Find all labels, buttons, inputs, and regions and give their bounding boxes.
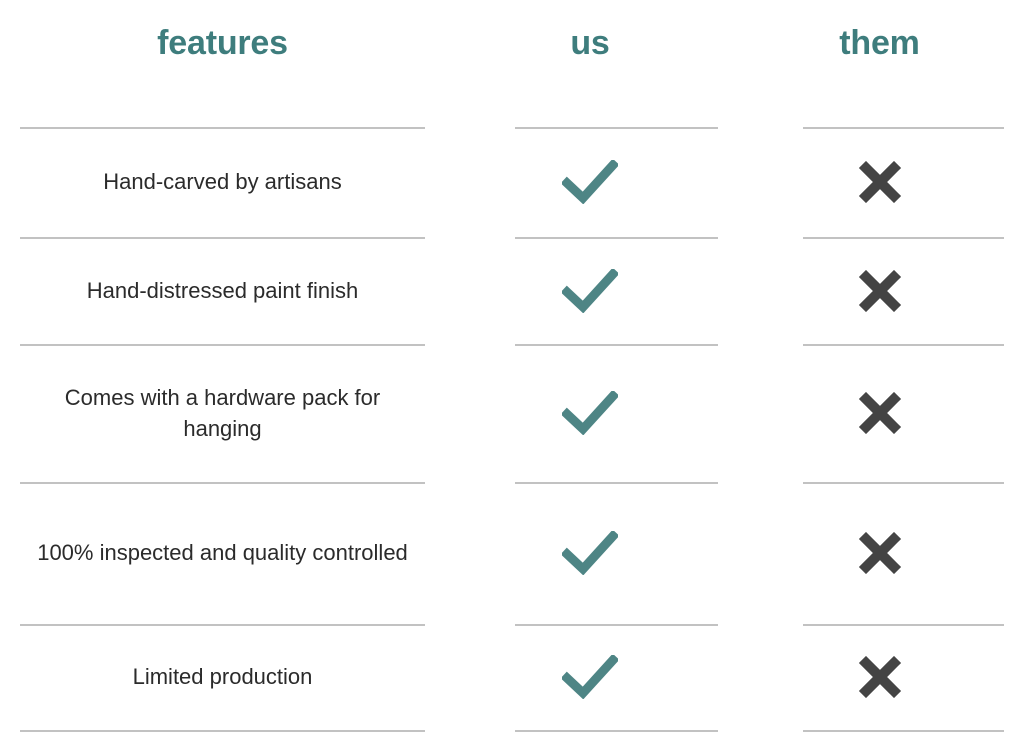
check-icon (562, 269, 618, 313)
header-label-them: them (839, 26, 919, 60)
cross-icon (859, 656, 901, 698)
us-cell (445, 624, 735, 730)
cross-icon (859, 532, 901, 574)
us-cell (445, 344, 735, 482)
feature-label: 100% inspected and quality controlled (13, 537, 432, 568)
us-cell (445, 127, 735, 237)
check-icon (562, 531, 618, 575)
header-spacer (0, 86, 1024, 127)
table-row: Hand-carved by artisans (0, 127, 1024, 237)
feature-cell: Comes with a hardware pack for hanging (0, 344, 445, 482)
header-cell-them: them (735, 0, 1024, 86)
us-cell (445, 237, 735, 344)
cross-icon (859, 161, 901, 203)
check-icon (562, 391, 618, 435)
table-row: Limited production (0, 624, 1024, 730)
them-cell (735, 624, 1024, 730)
divider-segment-us (515, 730, 718, 732)
them-cell (735, 482, 1024, 624)
cross-icon (859, 270, 901, 312)
comparison-table: features us them Hand-carved by artisans (0, 0, 1024, 753)
feature-label: Hand-carved by artisans (79, 166, 365, 197)
feature-label: Comes with a hardware pack for hanging (0, 382, 445, 444)
feature-cell: 100% inspected and quality controlled (0, 482, 445, 624)
us-cell (445, 482, 735, 624)
table-row: Hand-distressed paint finish (0, 237, 1024, 344)
divider-segment-them (803, 730, 1004, 732)
them-cell (735, 237, 1024, 344)
header-cell-us: us (445, 0, 735, 86)
table-header-row: features us them (0, 0, 1024, 86)
feature-label: Hand-distressed paint finish (63, 275, 382, 306)
feature-cell: Hand-carved by artisans (0, 127, 445, 237)
table-row: 100% inspected and quality controlled (0, 482, 1024, 624)
check-icon (562, 655, 618, 699)
them-cell (735, 344, 1024, 482)
divider-segment-features (20, 730, 425, 732)
them-cell (735, 127, 1024, 237)
header-label-features: features (157, 26, 288, 60)
feature-cell: Limited production (0, 624, 445, 730)
header-label-us: us (570, 26, 609, 60)
table-row: Comes with a hardware pack for hanging (0, 344, 1024, 482)
feature-cell: Hand-distressed paint finish (0, 237, 445, 344)
check-icon (562, 160, 618, 204)
cross-icon (859, 392, 901, 434)
header-cell-features: features (0, 0, 445, 86)
feature-label: Limited production (109, 661, 337, 692)
